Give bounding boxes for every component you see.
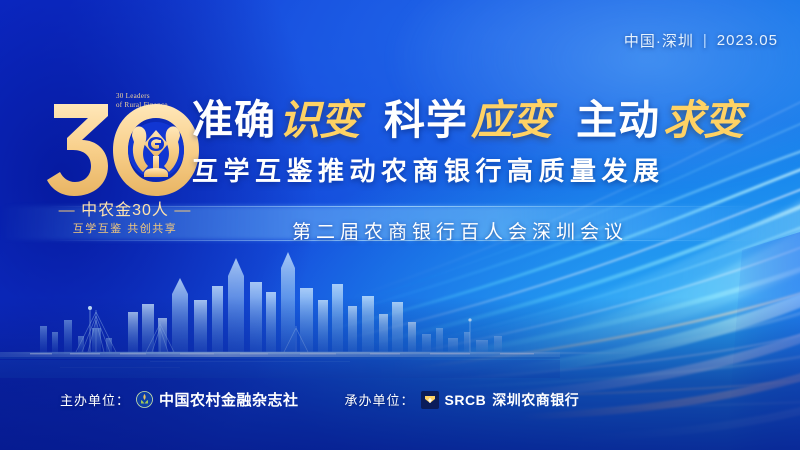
headline-part-1: 准确 bbox=[192, 98, 276, 142]
location-text: 中国·深圳 bbox=[624, 30, 694, 51]
logo-numeral-0-emblem bbox=[113, 104, 199, 196]
emblem-coin-c bbox=[148, 137, 164, 151]
logo-chinese-name: 中农金30人 bbox=[81, 202, 169, 219]
headline-part-4: 应变 bbox=[468, 98, 554, 142]
organizer-group: 承办单位： SRCB 深圳农商银行 bbox=[345, 390, 580, 410]
logo-chinese-name-row: — 中农金30人 — bbox=[40, 196, 210, 220]
srcb-logo-svg bbox=[423, 393, 437, 407]
rural-finance-magazine-logo-icon bbox=[136, 391, 153, 408]
organizer-organization-name: 深圳农商银行 bbox=[492, 390, 579, 410]
headline-line2: 互学互鉴推动农商银行高质量发展 bbox=[192, 151, 762, 188]
logo-slogan: 互学互鉴 共创共享 bbox=[40, 220, 210, 236]
logo-dash-right: — bbox=[174, 202, 191, 219]
srcb-logo-icon bbox=[421, 391, 439, 409]
headline-part-5: 主动 bbox=[576, 98, 660, 142]
logo-mark-svg bbox=[46, 100, 204, 200]
logo-dash-left: — bbox=[59, 202, 76, 219]
anniversary-logo: 30 Leaders of Rural Finance bbox=[40, 88, 210, 238]
headline-line3: 第二届农商银行百人会深圳会议 bbox=[292, 217, 628, 244]
organizer-label: 承办单位： bbox=[345, 390, 415, 409]
background-bottom-fade bbox=[0, 297, 800, 450]
magazine-logo-svg bbox=[136, 391, 153, 408]
host-group: 主办单位： 中国农村金融杂志社 bbox=[60, 389, 299, 410]
date-location-line: 中国·深圳 | 2023.05 bbox=[624, 30, 778, 51]
headline-part-6: 求变 bbox=[660, 98, 746, 142]
headline-block: 准确 识变 科学 应变 主动 求变 互学互鉴推动农商银行高质量发展 第二届农商银… bbox=[192, 98, 762, 188]
host-organization-name: 中国农村金融杂志社 bbox=[159, 389, 299, 410]
host-label: 主办单位： bbox=[60, 390, 130, 409]
date-separator: | bbox=[703, 32, 708, 49]
logo-mark bbox=[46, 100, 204, 200]
organizer-abbr: SRCB bbox=[445, 392, 487, 408]
headline-part-3: 科学 bbox=[384, 98, 468, 142]
date-text: 2023.05 bbox=[717, 32, 778, 49]
conference-banner: 中国·深圳 | 2023.05 30 Leaders of Rural Fina… bbox=[0, 0, 800, 450]
headline-part-2: 识变 bbox=[276, 98, 362, 142]
logo-numeral-3 bbox=[47, 104, 108, 196]
footer-credits: 主办单位： 中国农村金融杂志社 承办单位： SRCB bbox=[60, 389, 579, 410]
headline-line1: 准确 识变 科学 应变 主动 求变 bbox=[192, 98, 762, 142]
